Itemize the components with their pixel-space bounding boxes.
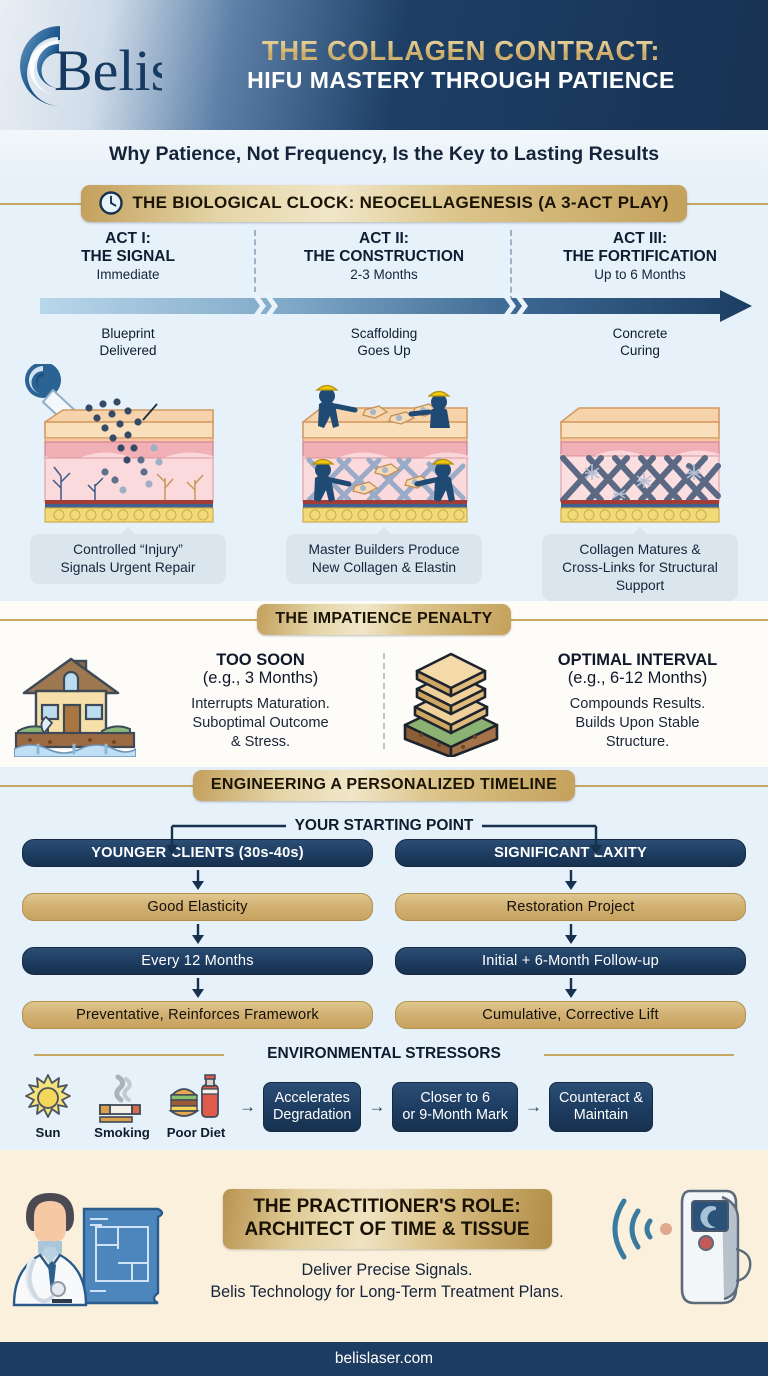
timeline-columns: YOUNGER CLIENTS (30s-40s) Good Elasticit… <box>0 839 768 1029</box>
header-rule-right <box>544 1054 734 1056</box>
act-panel-3: Concrete Curing <box>512 326 768 601</box>
down-arrow-icon <box>563 867 579 893</box>
timeline-banner: ENGINEERING A PERSONALIZED TIMELINE <box>193 770 575 801</box>
optimal-title: OPTIMAL INTERVAL <box>521 651 754 670</box>
box-line: Degradation <box>273 1107 351 1123</box>
box-line: Counteract & <box>559 1090 643 1106</box>
act-title: THE SIGNAL <box>81 248 175 265</box>
act-callout-1: Blueprint Delivered <box>99 326 156 362</box>
section-impatience-penalty: THE IMPATIENCE PENALTY <box>0 601 768 767</box>
practitioner-banner-line: THE PRACTITIONER'S ROLE: <box>253 1196 520 1217</box>
env-outcome-3[interactable]: Counteract & Maintain <box>549 1082 653 1133</box>
practitioner-subtext-line: Deliver Precise Signals. <box>302 1261 473 1279</box>
act-title: THE FORTIFICATION <box>563 248 717 265</box>
section-personalized-timeline: ENGINEERING A PERSONALIZED TIMELINE YOUR… <box>0 767 768 1150</box>
practitioner-subtext-line: Belis Technology for Long-Term Treatment… <box>210 1283 563 1301</box>
infographic-page: Belis THE COLLAGEN CONTRACT: HIFU MASTER… <box>0 0 768 1376</box>
footer-url-bar: belislaser.com <box>0 1342 768 1376</box>
sun-icon <box>23 1073 73 1123</box>
act-callout-3: Concrete Curing <box>613 326 668 362</box>
tagline-bar: Why Patience, Not Frequency, Is the Key … <box>0 130 768 178</box>
down-arrow-icon <box>563 975 579 1001</box>
timeline-node[interactable]: Cumulative, Corrective Lift <box>395 1001 746 1029</box>
arrow-glyph: → <box>234 1097 261 1117</box>
starting-point-row: YOUR STARTING POINT <box>0 815 768 837</box>
flooded-house-icon <box>14 645 136 757</box>
page-title: THE COLLAGEN CONTRACT: <box>168 36 754 65</box>
act-duration: Immediate <box>0 267 256 282</box>
acts-body-row: Blueprint Delivered <box>0 326 768 601</box>
optimal-subtitle: (e.g., 6-12 Months) <box>521 669 754 688</box>
skin-diagram-signal <box>17 364 239 524</box>
bubble-line: Support <box>616 578 664 593</box>
timeline-node[interactable]: Initial + 6-Month Follow-up <box>395 947 746 975</box>
footer-url[interactable]: belislaser.com <box>335 1350 433 1368</box>
callout-line: Delivered <box>99 343 156 358</box>
env-outcome-2[interactable]: Closer to 6 or 9-Month Mark <box>392 1082 518 1133</box>
bubble-line: Collagen Matures & <box>579 542 700 557</box>
biological-clock-banner: THE BIOLOGICAL CLOCK: NEOCELLAGENESIS (A… <box>81 185 686 222</box>
callout-line: Goes Up <box>357 343 410 358</box>
brand-logo: Belis <box>0 0 168 130</box>
stressor-poor-diet: Poor Diet <box>160 1073 232 1140</box>
callout-line: Scaffolding <box>351 326 418 341</box>
body-line: Compounds Results. <box>570 696 705 712</box>
env-outcome-1[interactable]: Accelerates Degradation <box>263 1082 361 1133</box>
act-label: ACT I: <box>105 230 151 247</box>
skin-diagram-construction <box>273 364 495 524</box>
timeline-column-right: SIGNIFICANT LAXITY Restoration Project I… <box>395 839 746 1029</box>
acts-header-row: ACT I: THE SIGNAL Immediate ACT II: THE … <box>0 230 768 282</box>
practitioner-text-block: THE PRACTITIONER'S ROLE: ARCHITECT OF TI… <box>174 1189 600 1303</box>
act-label: ACT III: <box>613 230 667 247</box>
stressor-smoking: Smoking <box>86 1073 158 1140</box>
stressor-sun: Sun <box>12 1073 84 1140</box>
impatience-banner: THE IMPATIENCE PENALTY <box>257 604 510 635</box>
act-duration: Up to 6 Months <box>512 267 768 282</box>
callout-line: Curing <box>620 343 660 358</box>
act-bubble-2: Master Builders Produce New Collagen & E… <box>286 534 482 583</box>
body-line: Interrupts Maturation. <box>191 696 330 712</box>
bubble-line: Master Builders Produce <box>308 542 459 557</box>
act-panel-1: Blueprint Delivered <box>0 326 256 601</box>
starting-point-label: YOUR STARTING POINT <box>286 817 483 835</box>
too-soon-subtitle: (e.g., 3 Months) <box>144 669 377 688</box>
page-subtitle: HIFU MASTERY THROUGH PATIENCE <box>168 67 754 95</box>
box-line: Closer to 6 <box>420 1090 490 1106</box>
act-header-1: ACT I: THE SIGNAL Immediate <box>0 230 256 282</box>
stressor-caption: Sun <box>36 1125 61 1140</box>
box-line: Maintain <box>574 1107 628 1123</box>
down-arrow-icon <box>190 975 206 1001</box>
svg-text:Belis: Belis <box>54 38 162 103</box>
stacked-blocks-icon <box>391 645 513 757</box>
act-header-2: ACT II: THE CONSTRUCTION 2-3 Months <box>256 230 512 282</box>
environmental-stressors-label: ENVIRONMENTAL STRESSORS <box>255 1045 513 1063</box>
act-callout-2: Scaffolding Goes Up <box>351 326 418 362</box>
biological-clock-banner-label: THE BIOLOGICAL CLOCK: NEOCELLAGENESIS (A… <box>132 193 668 213</box>
section-practitioner-role: THE PRACTITIONER'S ROLE: ARCHITECT OF TI… <box>0 1150 768 1342</box>
impatience-too-soon: TOO SOON (e.g., 3 Months) Interrupts Mat… <box>8 645 383 757</box>
optimal-body: Compounds Results. Builds Upon Stable St… <box>521 695 754 752</box>
environmental-stressors-row: Sun Smoking <box>0 1065 768 1144</box>
act-panel-2: Scaffolding Goes Up <box>256 326 512 601</box>
stressor-caption: Smoking <box>94 1125 150 1140</box>
too-soon-title: TOO SOON <box>144 651 377 670</box>
practitioner-banner-line: ARCHITECT OF TIME & TISSUE <box>245 1219 530 1240</box>
timeline-banner-label: ENGINEERING A PERSONALIZED TIMELINE <box>211 776 557 794</box>
bubble-line: Cross-Links for Structural <box>562 560 718 575</box>
down-arrow-icon <box>190 867 206 893</box>
section-biological-clock: THE BIOLOGICAL CLOCK: NEOCELLAGENESIS (A… <box>0 178 768 601</box>
act-bubble-3: Collagen Matures & Cross-Links for Struc… <box>542 534 738 601</box>
callout-line: Concrete <box>613 326 668 341</box>
body-line: Structure. <box>606 734 669 750</box>
box-line: Accelerates <box>275 1090 350 1106</box>
stressor-caption: Poor Diet <box>167 1125 226 1140</box>
impatience-body: TOO SOON (e.g., 3 Months) Interrupts Mat… <box>0 637 768 767</box>
bubble-line: New Collagen & Elastin <box>312 560 456 575</box>
signal-waves-icon <box>615 1201 650 1257</box>
junk-food-icon <box>168 1073 224 1123</box>
tagline-text: Why Patience, Not Frequency, Is the Key … <box>109 143 659 166</box>
environmental-stressors-header: ENVIRONMENTAL STRESSORS <box>0 1043 768 1065</box>
belis-logo-icon: Belis <box>14 20 162 112</box>
too-soon-body: Interrupts Maturation. Suboptimal Outcom… <box>144 695 377 752</box>
cigarette-icon <box>96 1073 148 1123</box>
arrow-glyph: → <box>363 1097 390 1117</box>
skin-diagram-fortification <box>529 364 751 524</box>
bubble-line: Controlled “Injury” <box>73 542 183 557</box>
header-banner: Belis THE COLLAGEN CONTRACT: HIFU MASTER… <box>0 0 768 130</box>
act-duration: 2-3 Months <box>256 267 512 282</box>
act-bubble-1: Controlled “Injury” Signals Urgent Repai… <box>30 534 226 583</box>
header-rule-left <box>34 1054 224 1056</box>
clock-icon <box>99 191 123 215</box>
bubble-line: Signals Urgent Repair <box>61 560 196 575</box>
act-header-3: ACT III: THE FORTIFICATION Up to 6 Month… <box>512 230 768 282</box>
down-arrow-icon <box>190 921 206 947</box>
biological-clock-banner-row: THE BIOLOGICAL CLOCK: NEOCELLAGENESIS (A… <box>0 186 768 220</box>
callout-line: Blueprint <box>101 326 154 341</box>
doctor-blueprint-icon <box>8 1183 174 1309</box>
body-line: Builds Upon Stable <box>575 715 699 731</box>
body-line: & Stress. <box>231 734 290 750</box>
impatience-optimal-interval: OPTIMAL INTERVAL (e.g., 6-12 Months) Com… <box>385 645 760 757</box>
arrow-glyph: → <box>520 1097 547 1117</box>
act-title: THE CONSTRUCTION <box>304 248 464 265</box>
practitioner-subtext: Deliver Precise Signals. Belis Technolog… <box>210 1259 563 1304</box>
timeline-node[interactable]: Every 12 Months <box>22 947 373 975</box>
timeline-banner-row: ENGINEERING A PERSONALIZED TIMELINE <box>0 767 768 803</box>
down-arrow-icon <box>563 921 579 947</box>
timeline-node[interactable]: Good Elasticity <box>22 893 373 921</box>
timeline-column-left: YOUNGER CLIENTS (30s-40s) Good Elasticit… <box>22 839 373 1029</box>
box-line: or 9-Month Mark <box>402 1107 508 1123</box>
impatience-banner-label: THE IMPATIENCE PENALTY <box>275 610 492 628</box>
timeline-node[interactable]: Preventative, Reinforces Framework <box>22 1001 373 1029</box>
practitioner-banner: THE PRACTITIONER'S ROLE: ARCHITECT OF TI… <box>223 1189 552 1249</box>
progression-arrow <box>0 286 768 326</box>
impatience-banner-row: THE IMPATIENCE PENALTY <box>0 601 768 637</box>
act-label: ACT II: <box>359 230 409 247</box>
body-line: Suboptimal Outcome <box>192 715 328 731</box>
timeline-node[interactable]: Restoration Project <box>395 893 746 921</box>
hifu-handpiece-icon <box>600 1183 760 1309</box>
